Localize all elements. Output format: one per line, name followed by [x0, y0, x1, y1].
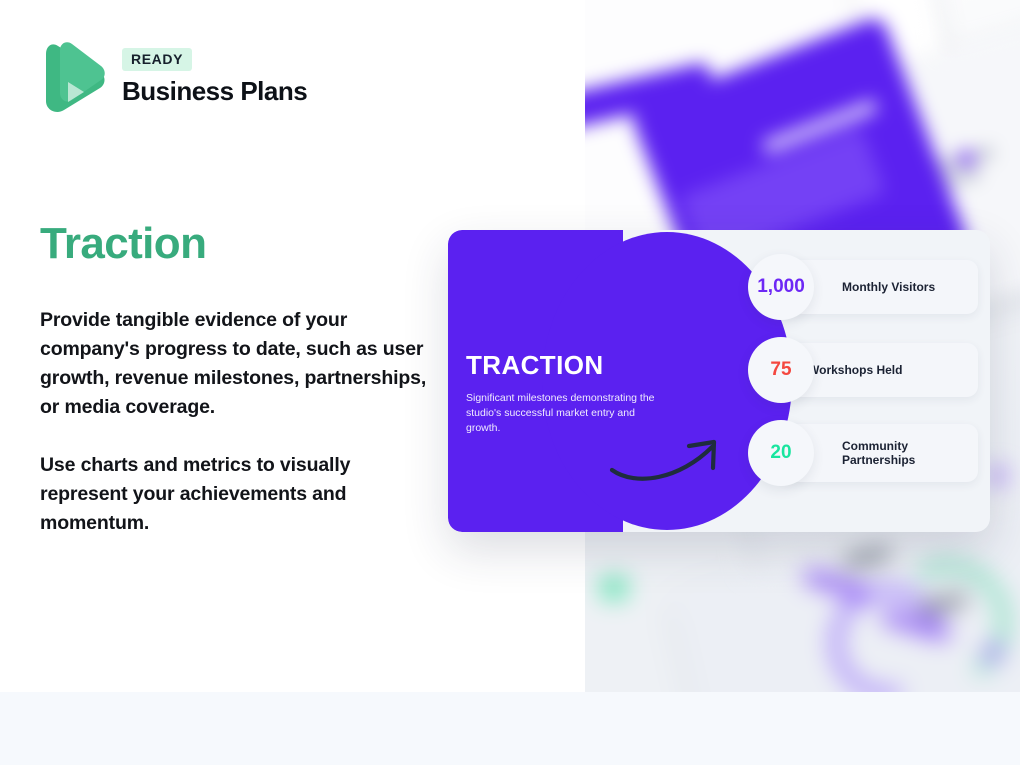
metric-row[interactable]: Community Partnerships 20	[748, 420, 978, 486]
metric-value: 1,000	[757, 276, 805, 298]
brand-name: Business Plans	[122, 76, 307, 107]
brand-header: READY Business Plans	[40, 38, 307, 118]
metric-value: 20	[770, 442, 791, 464]
body-copy: Provide tangible evidence of your compan…	[40, 306, 440, 538]
metric-row[interactable]: Monthly Visitors 1,000	[748, 254, 978, 320]
bg-dot-decor	[985, 645, 1001, 661]
bg-dot-decor	[990, 468, 1006, 484]
slide-card[interactable]: TRACTION Significant milestones demonstr…	[448, 230, 990, 532]
play-logo-icon	[40, 38, 106, 118]
brand-text: READY Business Plans	[122, 38, 307, 107]
bottom-strip	[0, 692, 1020, 765]
metric-badge: 75	[748, 337, 814, 403]
slide-preview-page: READY Business Plans Traction Provide ta…	[0, 0, 1020, 765]
bg-green-dot	[599, 576, 629, 600]
metric-badge: 1,000	[748, 254, 814, 320]
metric-row[interactable]: Workshops Held 75	[702, 337, 978, 403]
ready-badge: READY	[122, 48, 192, 71]
paragraph-2: Use charts and metrics to visually repre…	[40, 451, 440, 538]
slide-panel-copy: TRACTION Significant milestones demonstr…	[466, 350, 661, 436]
metric-badge: 20	[748, 420, 814, 486]
paragraph-1: Provide tangible evidence of your compan…	[40, 306, 440, 422]
slide-title: TRACTION	[466, 350, 661, 381]
curved-arrow-up-right-icon	[608, 425, 738, 485]
metric-label: Monthly Visitors	[842, 280, 935, 294]
metric-list: Monthly Visitors 1,000 Workshops Held 75…	[748, 254, 978, 503]
metric-label: Workshops Held	[808, 363, 902, 377]
metric-label: Community Partnerships	[842, 439, 952, 467]
page-title: Traction	[40, 219, 206, 269]
metric-value: 75	[770, 359, 791, 381]
